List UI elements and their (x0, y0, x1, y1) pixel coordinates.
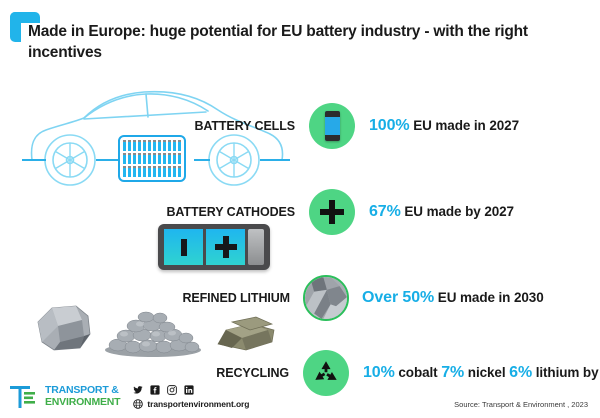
globe-icon (133, 399, 143, 409)
stat-caption-nickel: nickel (468, 365, 506, 380)
stat-value-cobalt: 10% (363, 364, 395, 381)
stat-value: 67% (369, 203, 401, 220)
linkedin-icon[interactable] (184, 385, 194, 395)
website-row[interactable]: transportenvironment.org (133, 399, 249, 409)
battery-pack-row (123, 166, 181, 177)
stat-value-nickel: 7% (441, 364, 464, 381)
lithium-rock-photo-icon (303, 275, 349, 321)
footer: TRANSPORT & ENVIRONMENT (10, 384, 249, 409)
te-wordmark-line1: TRANSPORT & (45, 385, 120, 396)
website-url: transportenvironment.org (147, 399, 249, 409)
row-recycling: RECYCLING 10% cobalt 7% nickel 6% lithiu… (213, 350, 600, 396)
row-label-battery-cathodes: BATTERY CATHODES (160, 205, 295, 219)
plus-glyph (320, 200, 344, 224)
plus-icon (309, 189, 355, 235)
row-label-recycling: RECYCLING (213, 366, 289, 380)
facebook-icon[interactable] (150, 385, 160, 395)
battery-pack-cells (118, 135, 186, 182)
stat-caption-lithium: lithium by 2030 (536, 365, 600, 380)
source-credit: Source: Transport & Environment , 2023 (454, 400, 588, 409)
page-title: Made in Europe: huge potential for EU ba… (28, 22, 576, 63)
twitter-icon[interactable] (133, 385, 143, 395)
stat-caption: EU made in 2027 (413, 118, 519, 133)
stat-value: Over 50% (362, 289, 434, 306)
row-label-refined-lithium: REFINED LITHIUM (172, 291, 290, 305)
stat-caption-cobalt: cobalt (398, 365, 437, 380)
row-battery-cathodes: BATTERY CATHODES 67% EU made by 2027 (160, 189, 514, 235)
recycling-icon (303, 350, 349, 396)
battery-pack-row (123, 140, 181, 151)
stat-recycling: 10% cobalt 7% nickel 6% lithium by 2030 (363, 364, 600, 382)
battery-cell-glyph (325, 111, 340, 141)
te-wordmark-line2: ENVIRONMENT (45, 397, 120, 408)
plus-icon (215, 236, 237, 258)
row-label-battery-cells: BATTERY CELLS (190, 119, 295, 133)
battery-cell-icon (309, 103, 355, 149)
stat-value: 100% (369, 117, 410, 134)
infographic-canvas: Made in Europe: huge potential for EU ba… (0, 0, 600, 418)
stat-value-lithium: 6% (509, 364, 532, 381)
row-refined-lithium: REFINED LITHIUM Over 50% EU made in 2030 (172, 275, 544, 321)
social-block: transportenvironment.org (133, 384, 249, 409)
stat-battery-cells: 100% EU made in 2027 (369, 117, 519, 135)
stat-caption: EU made by 2027 (404, 204, 514, 219)
nickel-flakes (218, 317, 274, 350)
te-monogram-icon (10, 385, 36, 409)
stat-refined-lithium: Over 50% EU made in 2030 (362, 289, 544, 307)
row-battery-cells: BATTERY CELLS 100% EU made in 2027 (190, 103, 519, 149)
lithium-metal-chunk (38, 306, 90, 350)
stat-caption: EU made in 2030 (438, 290, 544, 305)
te-wordmark: TRANSPORT & ENVIRONMENT (45, 385, 120, 407)
stat-battery-cathodes: 67% EU made by 2027 (369, 203, 514, 221)
social-icons-row (133, 384, 249, 396)
battery-pack-row (123, 153, 181, 164)
instagram-icon[interactable] (167, 385, 177, 395)
minus-icon (181, 239, 187, 256)
